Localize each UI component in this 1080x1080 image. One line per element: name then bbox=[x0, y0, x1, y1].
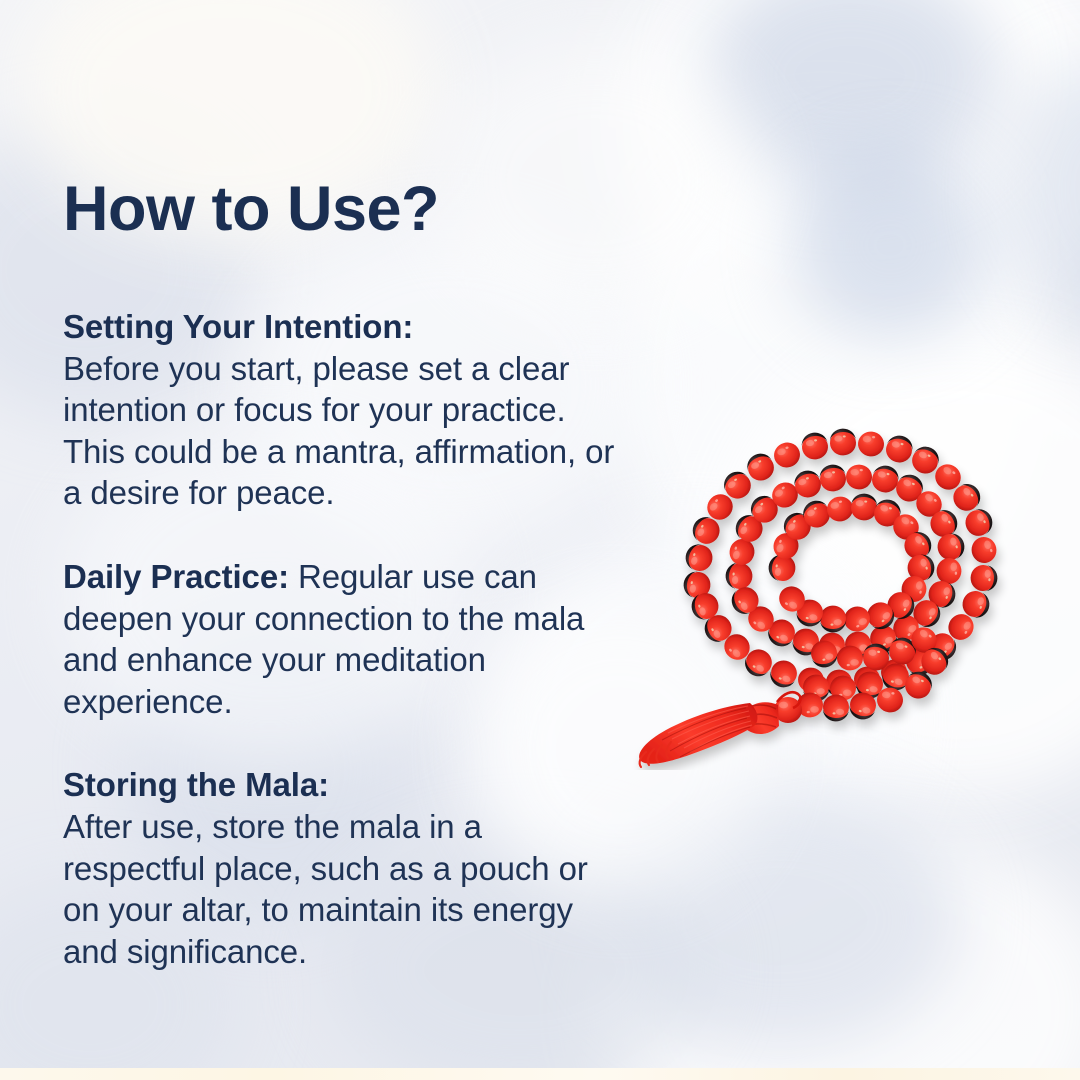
text-column: How to Use? Setting Your Intention: Befo… bbox=[63, 176, 623, 972]
section-daily-practice: Daily Practice: Regular use can deepen y… bbox=[63, 556, 623, 722]
bottom-accent-strip bbox=[0, 1068, 1080, 1080]
section-heading: Setting Your Intention: bbox=[63, 306, 623, 348]
section-body bbox=[289, 558, 298, 595]
section-storing-the-mala: Storing the Mala: After use, store the m… bbox=[63, 764, 623, 972]
mala-beads-photo bbox=[628, 400, 1048, 770]
section-heading: Storing the Mala: bbox=[63, 764, 623, 806]
page-title: How to Use? bbox=[63, 176, 623, 242]
section-heading: Daily Practice: bbox=[63, 558, 289, 595]
section-body: Before you start, please set a clear int… bbox=[63, 348, 623, 514]
mala-strand-inner bbox=[767, 493, 936, 635]
section-body: After use, store the mala in a respectfu… bbox=[63, 806, 623, 972]
section-setting-your-intention: Setting Your Intention: Before you start… bbox=[63, 306, 623, 514]
poster-canvas: How to Use? Setting Your Intention: Befo… bbox=[0, 0, 1080, 1080]
